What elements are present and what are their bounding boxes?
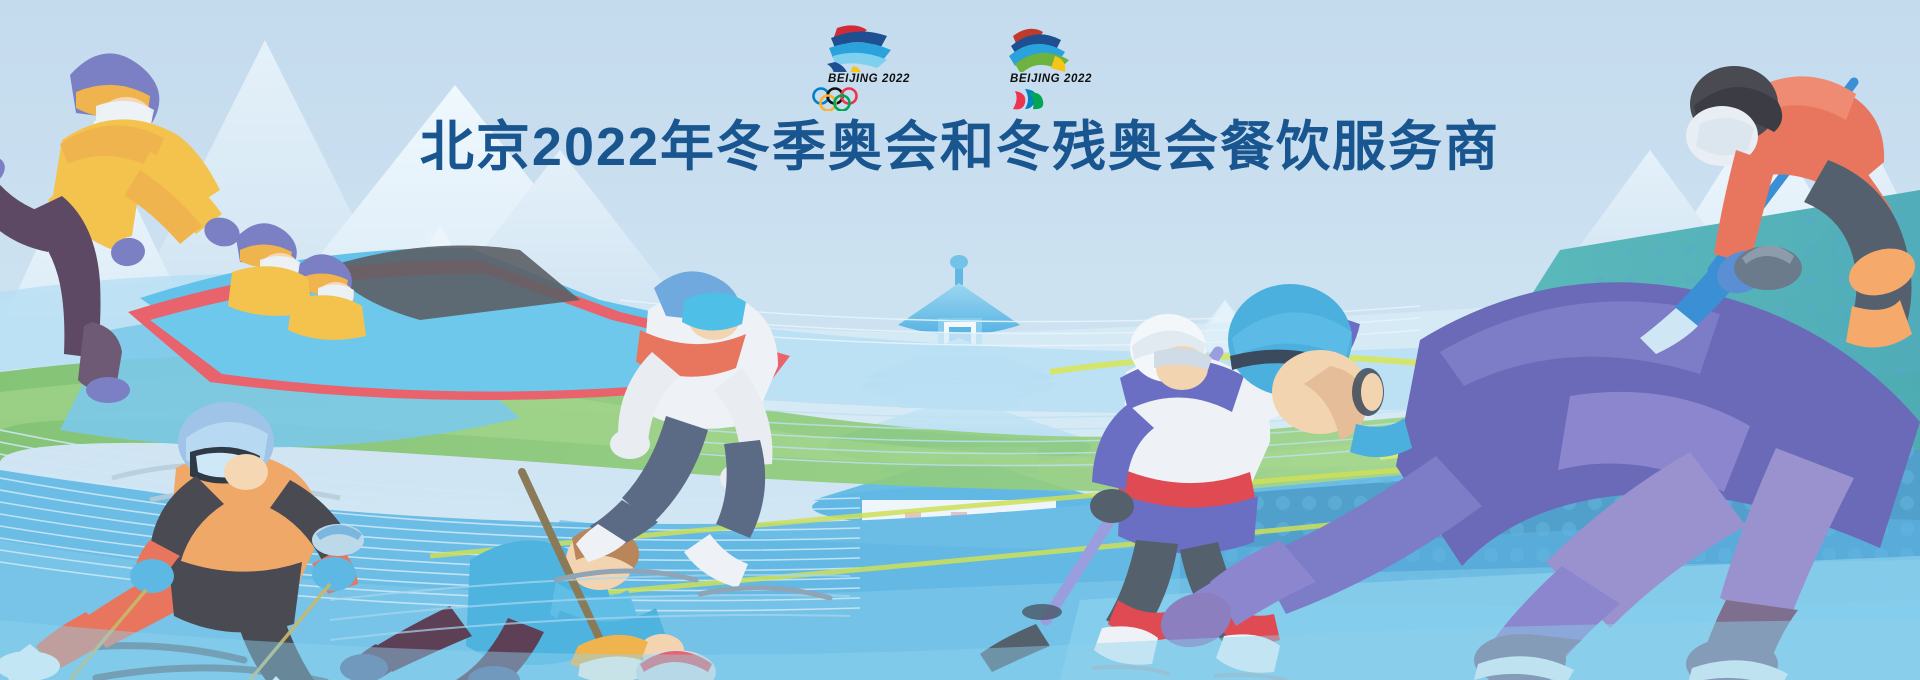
paralympic-agitos-icon (991, 87, 1063, 111)
page-title: 北京2022年冬季奥会和冬残奥会餐饮服务商 (420, 118, 1500, 177)
olympic-wordmark: BEIJING 2022 (809, 73, 929, 85)
emblem-row: BEIJING 2022 BEIJING 2022 (0, 22, 1920, 111)
beijing-2022-paralympic-emblem: BEIJING 2022 (991, 22, 1111, 111)
olympic-rings-icon (809, 87, 881, 111)
paralympic-wordmark: BEIJING 2022 (991, 73, 1111, 85)
beijing-2022-olympic-emblem: BEIJING 2022 (809, 22, 929, 111)
page-title-wrap: 北京2022年冬季奥会和冬残奥会餐饮服务商 (0, 118, 1920, 177)
olympic-emblem-symbol (809, 22, 903, 72)
curling-stone-far-left (312, 524, 364, 556)
paralympic-emblem-symbol (991, 22, 1085, 72)
olympic-banner: BEIJING 2022 BEIJING 2022 (0, 0, 1920, 680)
